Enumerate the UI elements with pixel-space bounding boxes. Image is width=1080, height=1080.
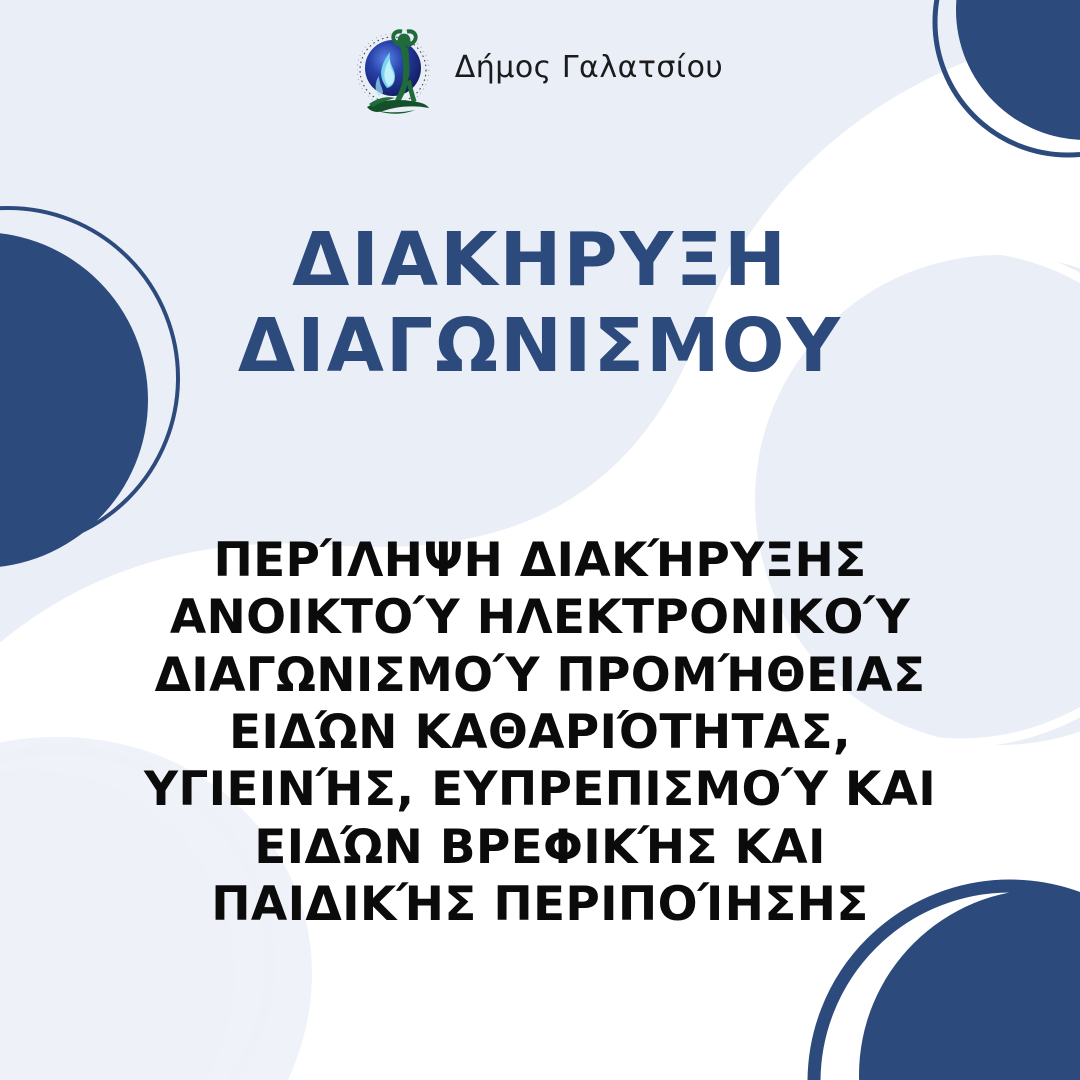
poster-title: ΔΙΑΚΗΡΥΞΗ ΔΙΑΓΩΝΙΣΜΟΥ — [0, 218, 1080, 390]
body-line-1: ΠΕΡΊΛΗΨΗ ΔΙΑΚΉΡΥΞΗΣ — [70, 532, 1010, 589]
body-line-3: ΔΙΑΓΩΝΙΣΜΟΎ ΠΡΟΜΉΘΕΙΑΣ — [70, 647, 1010, 704]
body-line-5: ΥΓΙΕΙΝΉΣ, ΕΥΠΡΕΠΙΣΜΟΎ ΚΑΙ — [70, 761, 1010, 818]
title-line-1: ΔΙΑΚΗΡΥΞΗ — [0, 218, 1080, 304]
brand-name-label: Δήμος Γαλατσίου — [455, 53, 724, 87]
body-line-2: ΑΝΟΙΚΤΟΎ ΗΛΕΚΤΡΟΝΙΚΟΎ — [70, 589, 1010, 646]
brand-header: Δήμος Γαλατσίου — [0, 18, 1080, 122]
title-line-2: ΔΙΑΓΩΝΙΣΜΟΥ — [0, 304, 1080, 390]
body-line-7: ΠΑΙΔΙΚΉΣ ΠΕΡΙΠΟΊΗΣΗΣ — [70, 876, 1010, 933]
body-line-4: ΕΙΔΏΝ ΚΑΘΑΡΙΌΤΗΤΑΣ, — [70, 704, 1010, 761]
body-line-6: ΕΙΔΏΝ ΒΡΕΦΙΚΉΣ ΚΑΙ — [70, 819, 1010, 876]
poster-body-text: ΠΕΡΊΛΗΨΗ ΔΙΑΚΉΡΥΞΗΣ ΑΝΟΙΚΤΟΎ ΗΛΕΚΤΡΟΝΙΚΟ… — [70, 532, 1010, 933]
galatsi-municipality-emblem-icon — [357, 18, 437, 122]
poster-canvas: Δήμος Γαλατσίου ΔΙΑΚΗΡΥΞΗ ΔΙΑΓΩΝΙΣΜΟΥ ΠΕ… — [0, 0, 1080, 1080]
